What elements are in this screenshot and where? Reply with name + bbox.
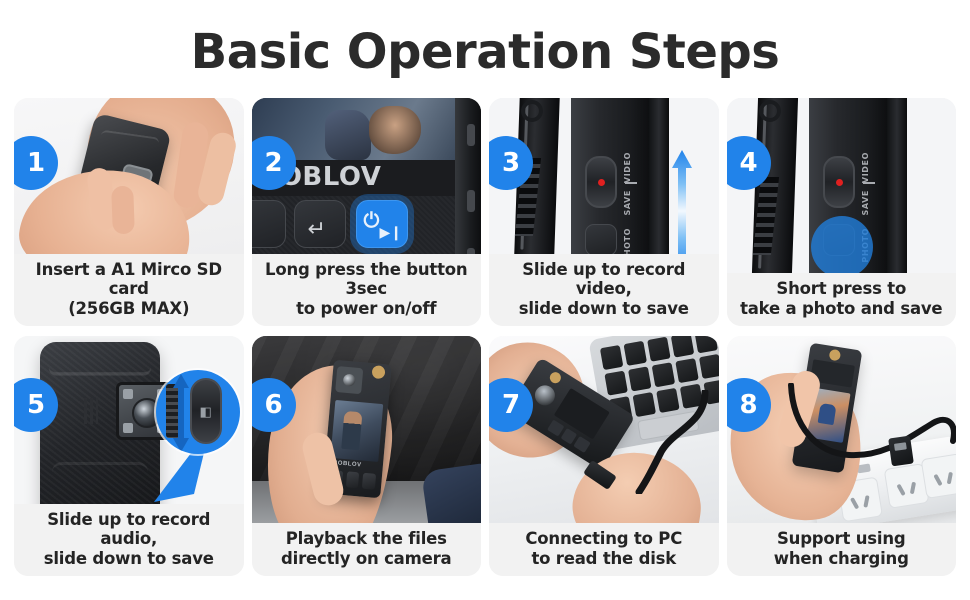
finger-shape bbox=[111, 185, 135, 234]
caption-line-2: to power on/off bbox=[256, 299, 478, 318]
step-caption-5: Slide up to record audio, slide down to … bbox=[14, 504, 244, 576]
record-indicator-dot bbox=[836, 179, 843, 186]
camera-button[interactable] bbox=[345, 471, 359, 488]
clip-ring-icon bbox=[521, 100, 543, 122]
play-pause-icon: ▶❙ bbox=[380, 224, 403, 241]
step-3-image: ▲ VIDEO SAVE PHOTO PREV bbox=[489, 98, 719, 254]
usb-cable bbox=[617, 390, 713, 494]
ir-led-icon bbox=[123, 423, 133, 433]
step-card-8[interactable]: 8 Support using when charging bbox=[727, 336, 957, 576]
charging-cable bbox=[787, 383, 957, 503]
up-down-arrow-icon bbox=[172, 374, 190, 452]
camera-lens-icon bbox=[531, 382, 559, 410]
side-label-video: VIDEO bbox=[623, 152, 632, 183]
label-dash bbox=[625, 182, 637, 184]
step-card-4[interactable]: ▲ VIDEO SAVE PHOTO PREV 4 Short press to… bbox=[727, 98, 957, 326]
playback-figure bbox=[341, 411, 362, 450]
caption-line-1: Support using bbox=[777, 529, 906, 548]
step-5-image: 5 bbox=[14, 336, 244, 504]
step-badge-1: 1 bbox=[14, 136, 58, 190]
caption-line-1: Slide up to record video, bbox=[522, 260, 685, 298]
hands-silhouette bbox=[369, 106, 421, 154]
back-arrow-icon: ↵ bbox=[308, 216, 326, 242]
key bbox=[623, 341, 647, 366]
camera-back-panel bbox=[40, 342, 160, 504]
step-caption-6: Playback the files directly on camera bbox=[252, 523, 482, 576]
caption-line-1: Connecting to PC bbox=[525, 529, 682, 548]
page-title: Basic Operation Steps bbox=[14, 0, 956, 98]
caption-line-2: (256GB MAX) bbox=[18, 299, 240, 318]
microphone-grille-icon bbox=[84, 398, 98, 424]
camera-edge bbox=[649, 98, 669, 254]
record-indicator-dot bbox=[598, 179, 605, 186]
step-caption-2: Long press the button 3sec to power on/o… bbox=[252, 254, 482, 326]
camera-side-edge bbox=[455, 98, 481, 254]
caption-line-2: slide down to save bbox=[18, 549, 240, 568]
gold-ring-icon bbox=[371, 365, 385, 379]
record-slider-switch[interactable] bbox=[585, 156, 617, 208]
caption-line-2: directly on camera bbox=[256, 549, 478, 568]
clip-ring-icon bbox=[759, 100, 781, 122]
camera-screen-playback bbox=[330, 400, 383, 462]
step-caption-3: Slide up to record video, slide down to … bbox=[489, 254, 719, 326]
step-card-3[interactable]: ▲ VIDEO SAVE PHOTO PREV bbox=[489, 98, 719, 326]
camera-button[interactable] bbox=[547, 420, 564, 437]
key bbox=[628, 366, 652, 391]
up-down-arrow-icon bbox=[671, 150, 693, 254]
gold-ring-icon bbox=[548, 370, 563, 385]
step-1-image: 1 bbox=[14, 98, 244, 254]
side-label-video: VIDEO bbox=[861, 152, 870, 183]
power-icon: ⏻ bbox=[364, 210, 380, 233]
caption-line-1: Short press to bbox=[776, 279, 906, 298]
caption-line-1: Playback the files bbox=[286, 529, 447, 548]
usb-plug-icon bbox=[888, 436, 914, 467]
caption-line-2: when charging bbox=[731, 549, 953, 568]
key bbox=[675, 358, 699, 383]
caption-line-2: slide down to save bbox=[493, 299, 715, 318]
caption-line-1: Slide up to record audio, bbox=[47, 510, 210, 548]
key bbox=[599, 345, 623, 370]
steps-grid: 1 Insert a A1 Mirco SD card (256GB MAX) … bbox=[14, 98, 956, 576]
side-notch bbox=[467, 124, 475, 146]
step-2-image: BOBLOV ↵ ⏻ ▶❙ 2 bbox=[252, 98, 482, 254]
background-silhouette bbox=[325, 110, 371, 160]
caption-line-1: Insert a A1 Mirco SD card bbox=[36, 260, 222, 298]
side-notch bbox=[467, 190, 475, 212]
key bbox=[651, 362, 675, 387]
key bbox=[670, 336, 694, 358]
caption-line-1: Long press the button 3sec bbox=[265, 260, 467, 298]
camera-side-view: ▲ VIDEO SAVE PHOTO PREV bbox=[727, 98, 957, 273]
caption-line-2: to read the disk bbox=[493, 549, 715, 568]
audio-slider-switch[interactable] bbox=[190, 378, 222, 444]
magnified-switch-callout bbox=[156, 370, 240, 454]
step-caption-8: Support using when charging bbox=[727, 523, 957, 576]
step-card-7[interactable]: 7 Connecting to PC to read the disk bbox=[489, 336, 719, 576]
photo-button[interactable] bbox=[585, 224, 617, 254]
side-label-save: SAVE bbox=[623, 190, 632, 215]
step-card-2[interactable]: BOBLOV ↵ ⏻ ▶❙ 2 Long press the button 3s… bbox=[252, 98, 482, 326]
gold-ring-icon bbox=[828, 349, 841, 362]
step-caption-7: Connecting to PC to read the disk bbox=[489, 523, 719, 576]
step-7-image: 7 bbox=[489, 336, 719, 523]
side-notch bbox=[467, 248, 475, 254]
label-dash bbox=[863, 182, 875, 184]
side-label-save: SAVE bbox=[861, 190, 870, 215]
step-card-5[interactable]: 5 Slide up to record audio, slide down t… bbox=[14, 336, 244, 576]
key bbox=[647, 337, 671, 362]
side-label-photo: PHOTO bbox=[623, 228, 632, 254]
step-4-image: ▲ VIDEO SAVE PHOTO PREV 4 bbox=[727, 98, 957, 273]
key bbox=[698, 354, 718, 379]
camera-button[interactable] bbox=[574, 436, 591, 453]
infographic-page: Basic Operation Steps 1 Insert a A1 Mirc… bbox=[0, 0, 970, 600]
camera-button-left[interactable] bbox=[252, 200, 286, 248]
camera-edge bbox=[887, 98, 907, 273]
step-8-image: 8 bbox=[727, 336, 957, 523]
step-card-6[interactable]: BOBLOV 6 Playback the files directly on … bbox=[252, 336, 482, 576]
key bbox=[694, 336, 718, 353]
record-slider-switch[interactable] bbox=[823, 156, 855, 208]
step-6-image: BOBLOV 6 bbox=[252, 336, 482, 523]
ir-led-icon bbox=[123, 389, 133, 399]
camera-button[interactable] bbox=[362, 473, 376, 490]
camera-lens-icon bbox=[335, 366, 363, 394]
step-card-1[interactable]: 1 Insert a A1 Mirco SD card (256GB MAX) bbox=[14, 98, 244, 326]
step-caption-1: Insert a A1 Mirco SD card (256GB MAX) bbox=[14, 254, 244, 326]
step-caption-4: Short press to take a photo and save bbox=[727, 273, 957, 326]
caption-line-2: take a photo and save bbox=[731, 299, 953, 318]
photo-button-highlight bbox=[811, 216, 873, 273]
jeans-background bbox=[421, 463, 481, 523]
